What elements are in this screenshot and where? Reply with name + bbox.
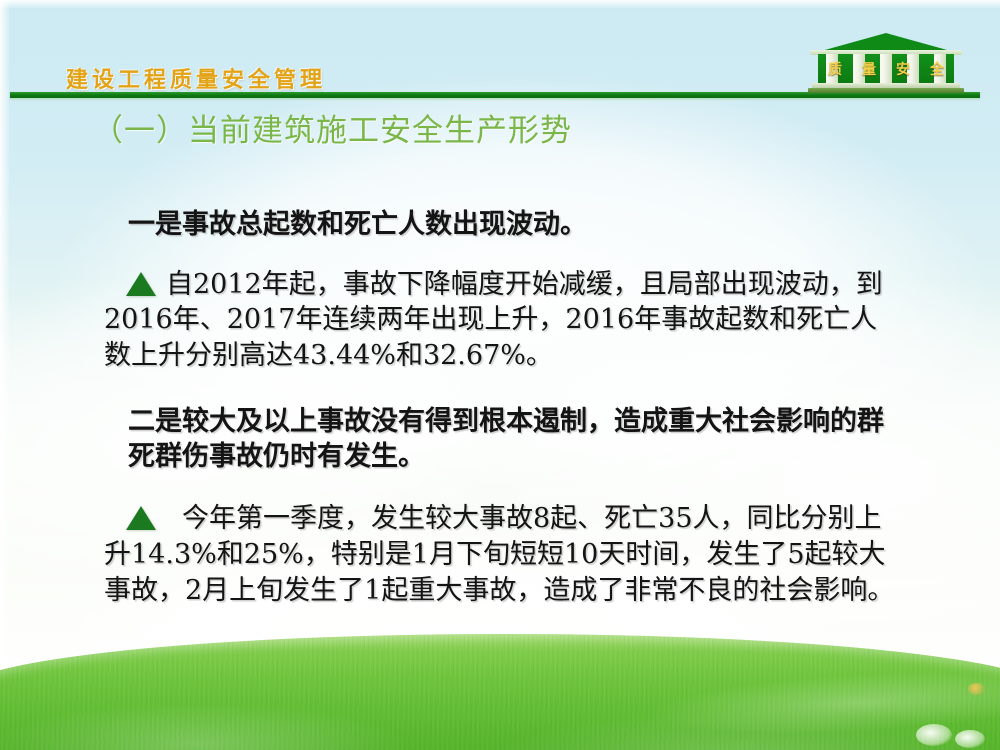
grass-white-flower-icon (955, 730, 985, 748)
grass-small-flower-icon (968, 683, 986, 695)
paragraph-point-one-detail-text: 自2012年起，事故下降幅度开始减缓，且局部出现波动，到2016年、2017年连… (104, 269, 883, 371)
paragraph-point-two-detail-text: 今年第一季度，发生较大事故8起、死亡35人，同比分别上升14.3%和25%，特别… (104, 503, 894, 605)
triangle-bullet-icon (126, 272, 156, 296)
presentation-slide: 建设工程质量安全管理 质 量 安 全 （一）当前建筑施工安全生产形势 一是事故总… (0, 0, 1000, 750)
logo-char-3: 安 (896, 59, 910, 79)
slide-header-title: 建设工程质量安全管理 (66, 62, 326, 94)
grass-white-flower-icon (916, 724, 952, 746)
header-divider-glow (10, 98, 980, 101)
logo-char-1: 质 (828, 59, 842, 79)
slide-content: （一）当前建筑施工安全生产形势 一是事故总起数和死亡人数出现波动。 自2012年… (0, 112, 1000, 608)
logo-char-2: 量 (862, 59, 876, 79)
paragraph-point-one-detail: 自2012年起，事故下降幅度开始减缓，且局部出现波动，到2016年、2017年连… (104, 267, 894, 374)
logo-char-4: 全 (930, 59, 944, 79)
grass-hill-graphic (0, 634, 1000, 750)
section-title: （一）当前建筑施工安全生产形势 (92, 112, 1000, 151)
logo-base-ground (808, 88, 964, 93)
quality-safety-temple-logo: 质 量 安 全 (808, 33, 968, 95)
triangle-bullet-icon (126, 506, 156, 530)
paragraph-point-two-detail: 今年第一季度，发生较大事故8起、死亡35人，同比分别上升14.3%和25%，特别… (104, 501, 904, 608)
logo-text: 质 量 安 全 (818, 59, 954, 79)
paragraph-point-one-heading: 一是事故总起数和死亡人数出现波动。 (128, 207, 1000, 243)
paragraph-point-two-heading: 二是较大及以上事故没有得到根本遏制，造成重大社会影响的群死群伤事故仍时有发生。 (128, 404, 908, 476)
slide-top-edge (0, 0, 1000, 8)
